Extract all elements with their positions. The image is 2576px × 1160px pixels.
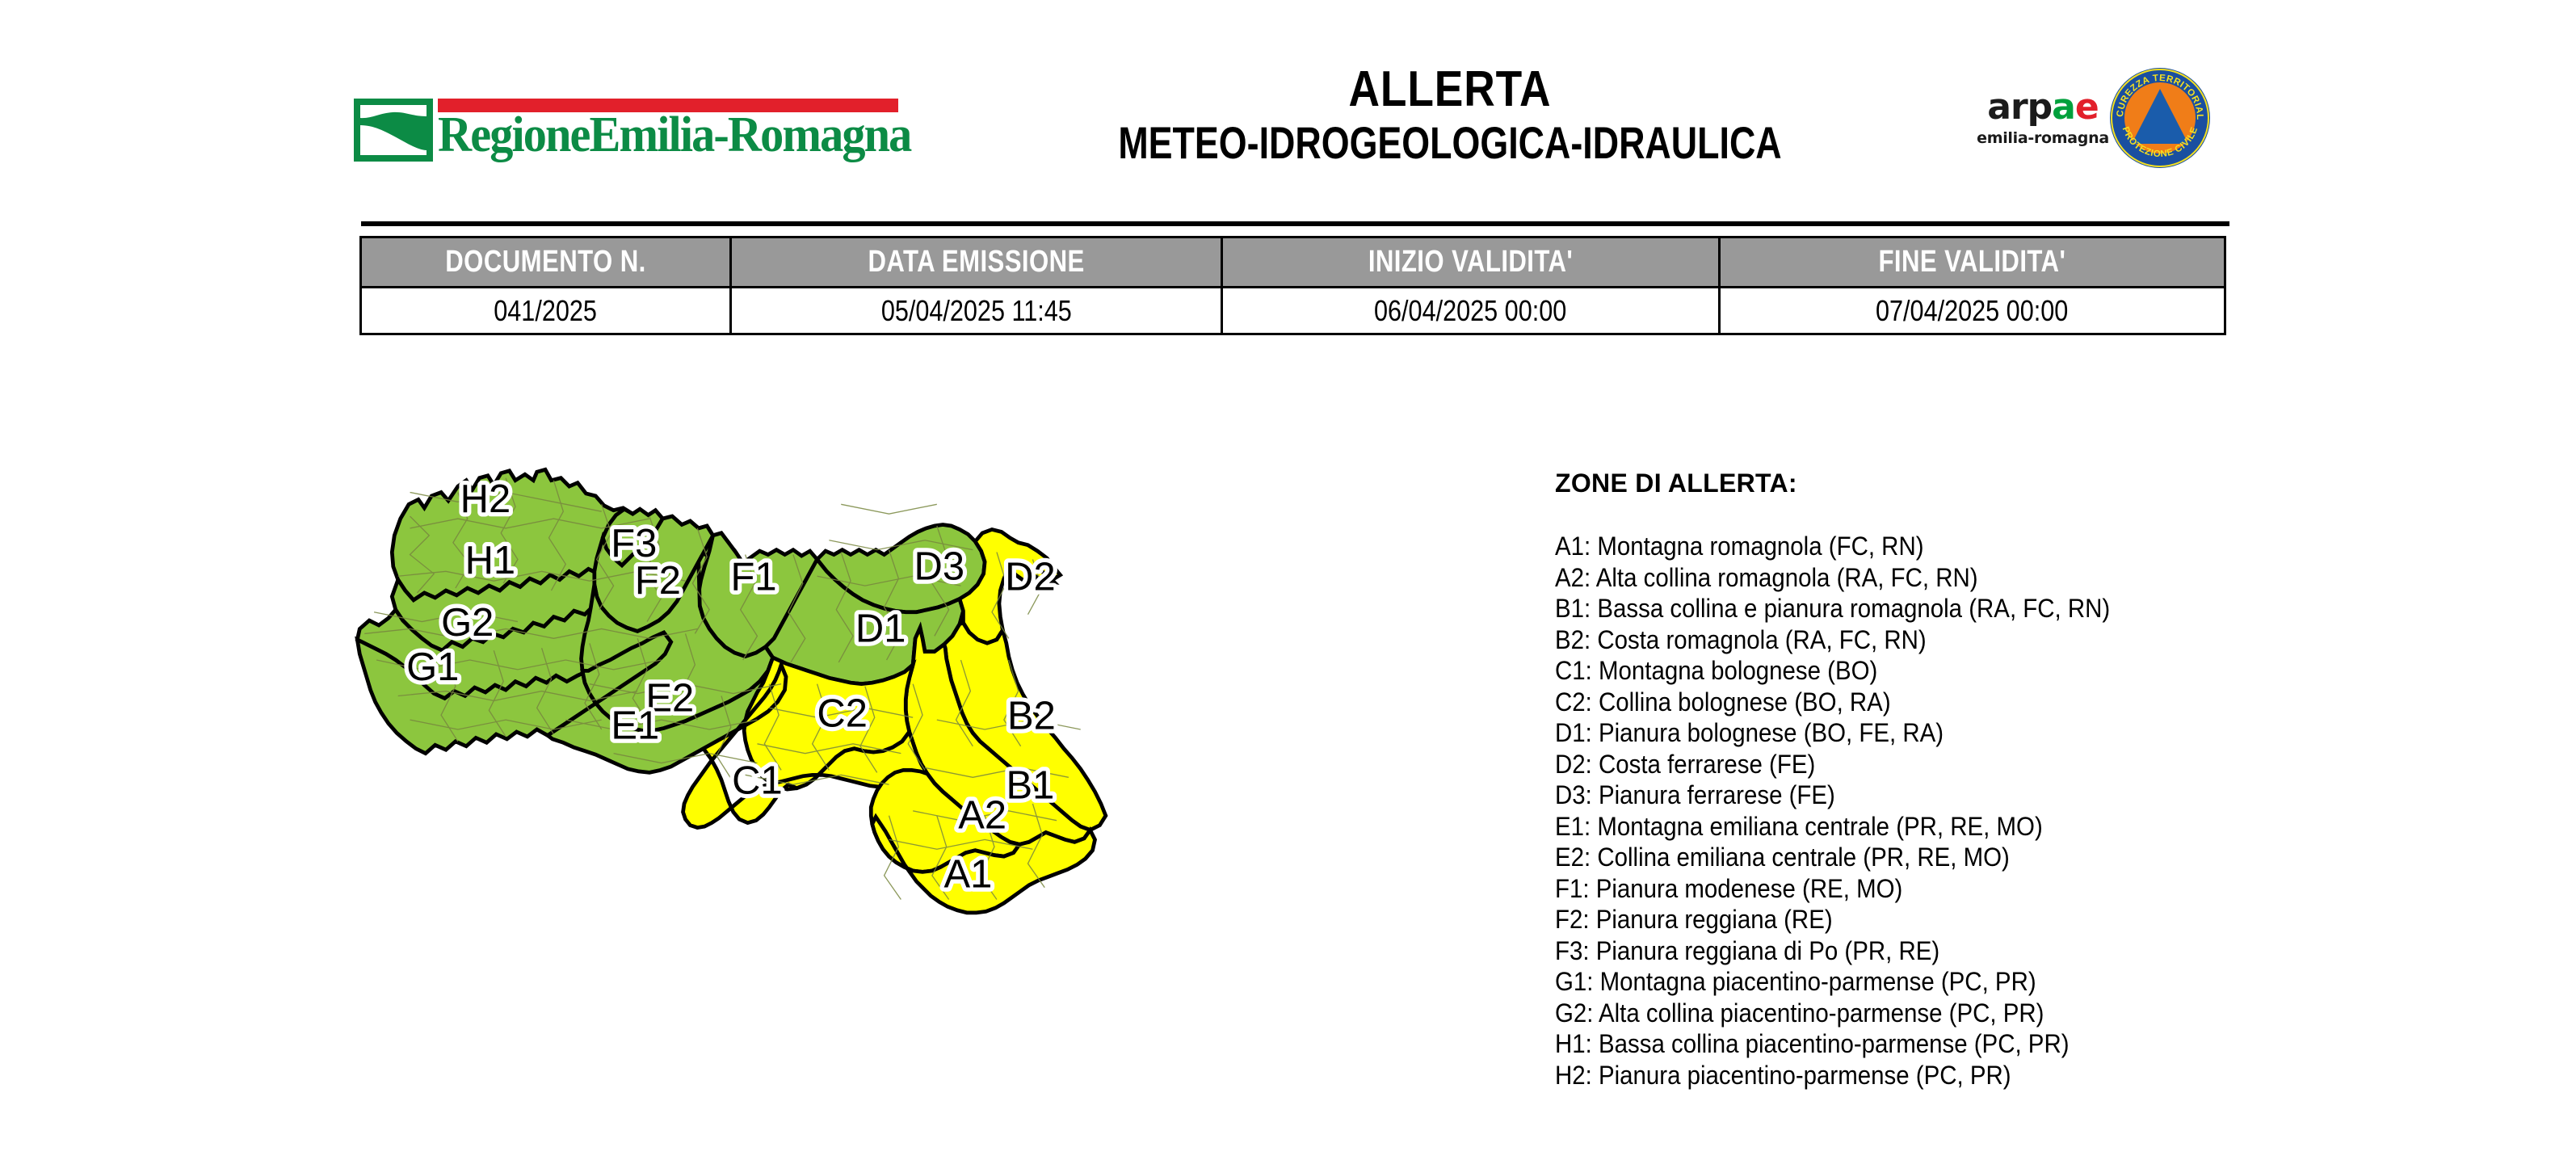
map-label-C1: C1 [732,759,783,803]
header-inizio-validita: INIZIO VALIDITA' [1222,237,1720,288]
page-title: ALLERTA METEO-IDROGEOLOGICA-IDRAULICA [953,65,1947,171]
header-inizio-validita-label: INIZIO VALIDITA' [1368,245,1573,279]
alert-bulletin-page: RegioneEmilia-Romagna ALLERTA METEO-IDRO… [0,0,2576,1160]
arpae-logo-wordmark: arpae [1966,89,2120,126]
list-item: A2: Alta collina romagnola (RA, FC, RN) [1555,562,2372,594]
list-item: D3: Pianura ferrarese (FE) [1555,780,2372,811]
list-item: E1: Montagna emiliana centrale (PR, RE, … [1555,811,2372,843]
arpae-arp-text: arp [1987,86,2052,128]
regione-logo-mark-icon [354,99,433,162]
map-label-H2: H2 [460,477,511,521]
arpae-logo-subtitle: emilia-romagna [1966,129,2120,147]
legend-title: ZONE DI ALLERTA: [1555,469,2444,498]
list-item: F2: Pianura reggiana (RE) [1555,904,2372,935]
list-item: C1: Montagna bolognese (BO) [1555,655,2372,687]
map-label-E1: E1 [611,704,659,747]
map-zone-fills [357,469,1106,913]
map-label-G1: G1 [406,645,459,689]
regione-emilia-romagna-logo: RegioneEmilia-Romagna [354,90,903,163]
list-item: G2: Alta collina piacentino-parmense (PC… [1555,998,2372,1029]
protezione-civile-logo: SICUREZZA TERRITORIALE PROTEZIONE CIVILE [2108,66,2212,170]
value-fine-validita: 07/04/2025 00:00 [1720,288,2225,334]
header-data-emissione-label: DATA EMISSIONE [868,245,1084,279]
header-data-emissione: DATA EMISSIONE [731,237,1222,288]
list-item: A1: Montagna romagnola (FC, RN) [1555,531,2372,562]
value-documento-n: 041/2025 [361,288,731,334]
map-label-G2: G2 [441,601,494,645]
page-header: RegioneEmilia-Romagna ALLERTA METEO-IDRO… [0,0,2576,202]
alert-zones-legend: ZONE DI ALLERTA: A1: Montagna romagnola … [1555,469,2444,1091]
protezione-civile-icon: SICUREZZA TERRITORIALE PROTEZIONE CIVILE [2108,66,2212,170]
map-label-B1: B1 [1006,764,1055,808]
page-title-line2: METEO-IDROGEOLOGICA-IDRAULICA [1053,115,1847,171]
map-label-A1: A1 [943,852,992,896]
map-label-F2: F2 [635,559,681,603]
document-info-table: DOCUMENTO N. DATA EMISSIONE INIZIO VALID… [359,236,2226,335]
map-label-C2: C2 [817,692,868,736]
map-label-D2: D2 [1005,556,1056,599]
map-label-D3: D3 [914,544,965,588]
map-label-F1: F1 [730,556,776,599]
table-header-row: DOCUMENTO N. DATA EMISSIONE INIZIO VALID… [361,237,2225,288]
list-item: B1: Bassa collina e pianura romagnola (R… [1555,593,2372,624]
list-item: F1: Pianura modenese (RE, MO) [1555,873,2372,905]
map-label-B2: B2 [1007,695,1056,738]
list-item: B2: Costa romagnola (RA, FC, RN) [1555,624,2372,656]
value-data-emissione-text: 05/04/2025 11:45 [881,294,1072,328]
value-inizio-validita: 06/04/2025 00:00 [1222,288,1720,334]
alert-zones-map: H2 H1 G2 G1 F3 F2 F1 E2 E1 D3 D2 D1 C2 C… [347,456,1502,1139]
list-item: H1: Bassa collina piacentino-parmense (P… [1555,1028,2372,1060]
map-label-A2: A2 [958,794,1006,838]
header-fine-validita: FINE VALIDITA' [1720,237,2225,288]
regione-wave-icon [354,99,433,162]
map-label-H1: H1 [465,539,516,582]
emilia-romagna-map-svg: H2 H1 G2 G1 F3 F2 F1 E2 E1 D3 D2 D1 C2 C… [347,456,1502,1139]
list-item: C2: Collina bolognese (BO, RA) [1555,687,2372,718]
arpae-e-text: e [2075,86,2099,128]
legend-list: A1: Montagna romagnola (FC, RN) A2: Alta… [1555,531,2444,1091]
header-documento-n-label: DOCUMENTO N. [445,245,645,279]
list-item: G1: Montagna piacentino-parmense (PC, PR… [1555,966,2372,998]
page-title-line1: ALLERTA [1023,65,1877,115]
value-fine-validita-text: 07/04/2025 00:00 [1876,294,2068,328]
value-data-emissione: 05/04/2025 11:45 [731,288,1222,334]
list-item: F3: Pianura reggiana di Po (PR, RE) [1555,935,2372,967]
value-documento-n-text: 041/2025 [494,294,598,328]
list-item: D2: Costa ferrarese (FE) [1555,749,2372,780]
arpae-logo: arpae emilia-romagna [1966,89,2120,162]
list-item: D1: Pianura bolognese (BO, FE, RA) [1555,717,2372,749]
header-documento-n: DOCUMENTO N. [361,237,731,288]
list-item: H2: Pianura piacentino-parmense (PC, PR) [1555,1060,2372,1091]
list-item: E2: Collina emiliana centrale (PR, RE, M… [1555,842,2372,873]
arpae-a-text: a [2052,86,2075,128]
header-fine-validita-label: FINE VALIDITA' [1879,245,2066,279]
header-divider [361,221,2229,226]
map-label-D1: D1 [855,607,906,650]
value-inizio-validita-text: 06/04/2025 00:00 [1374,294,1566,328]
regione-logo-text: RegioneEmilia-Romagna [438,108,910,162]
table-row: 041/2025 05/04/2025 11:45 06/04/2025 00:… [361,288,2225,334]
